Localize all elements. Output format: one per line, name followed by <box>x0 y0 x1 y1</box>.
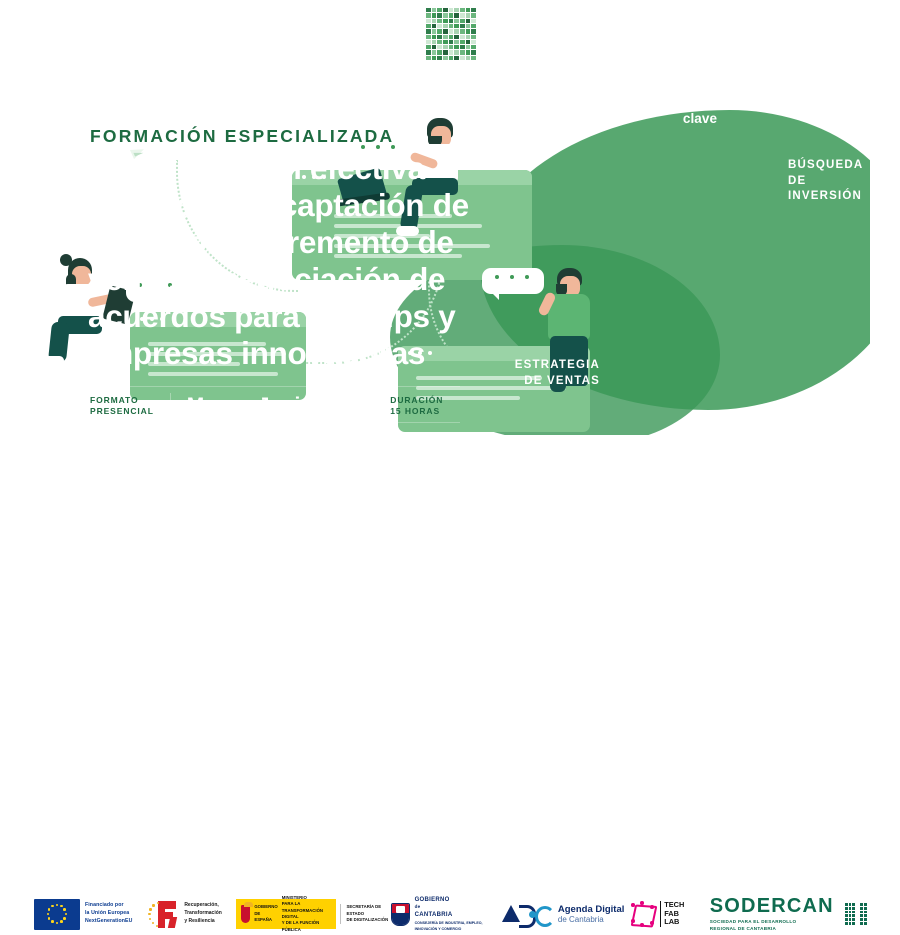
ministry-box: GOBIERNO DE ESPAÑA MINISTERIO PARA LA TR… <box>236 899 337 929</box>
sodercan-tagline: SOCIEDAD PARA EL DESARROLLO REGIONAL DE … <box>710 919 834 933</box>
pixel-grid-motif <box>424 6 478 62</box>
eu-line3: NextGenerationEU <box>85 918 132 926</box>
duration-label: DURACIÓN <box>390 395 443 406</box>
cantabria-line5: INNOVACIÓN Y COMERCIO <box>415 927 483 932</box>
ministry-line4: PARA LA TRANSFORMACIÓN DIGITAL <box>282 901 332 920</box>
tfl-line2: FAB <box>664 910 684 919</box>
divider-top <box>90 386 460 387</box>
topic-negotiation-line1: NEGOCIACIÓN Y <box>730 426 870 435</box>
ministry-line1: GOBIERNO <box>254 904 277 910</box>
adc-logo-text: Agenda Digital de Cantabria <box>558 904 625 925</box>
cantabria-shield-icon <box>391 903 410 926</box>
recovery-line1: Recuperación, <box>184 902 222 910</box>
topic-label-investment: BÚSQUEDA DE INVERSIÓN <box>788 158 870 205</box>
ministry-right2: DE DIGITALIZACIÓN <box>346 917 390 923</box>
topic-label-negotiation: NEGOCIACIÓN Y CIERRE DE ACUERDOS <box>730 426 870 435</box>
tagline: Un enfoque práctico centrado en tres ámb… <box>550 92 850 128</box>
recovery-line3: y Resiliencia <box>184 918 222 926</box>
logo-tech-fab-lab: TECH FAB LAB <box>630 901 704 927</box>
tfl-line3: LAB <box>664 918 684 927</box>
logo-sodercan: SODERCAN SOCIEDAD PARA EL DESARROLLO REG… <box>710 896 872 933</box>
cantabria-line3: CANTABRIA <box>415 911 483 920</box>
ministry-dept-text: MINISTERIO PARA LA TRANSFORMACIÓN DIGITA… <box>282 895 332 934</box>
duration-value: 15 HORAS <box>390 406 443 417</box>
cantabria-line1: GOBIERNO <box>415 896 483 905</box>
ministry-gov-text: GOBIERNO DE ESPAÑA <box>254 904 277 923</box>
adc-mark-icon <box>502 903 554 925</box>
format-value: PRESENCIAL <box>90 406 154 417</box>
ministry-line5: Y DE LA FUNCIÓN PÚBLICA <box>282 920 332 933</box>
logo-agenda-digital: Agenda Digital de Cantabria <box>502 903 630 925</box>
recovery-r-icon <box>145 899 179 930</box>
topic-sales-line1: ESTRATEGIA <box>500 358 600 374</box>
sodercan-name: SODERCAN <box>710 896 834 916</box>
divider-bottom <box>90 422 460 423</box>
promotional-poster: FORMACIÓN ESPECIALIZADA Comunicación efe… <box>0 0 900 505</box>
ministry-right1: SECRETARÍA DE ESTADO <box>346 904 390 917</box>
eu-line2: la Unión Europea <box>85 910 132 918</box>
eu-flag-icon <box>34 899 80 930</box>
ministry-line2: DE ESPAÑA <box>254 911 277 924</box>
topic-investment-line1: BÚSQUEDA <box>788 158 870 174</box>
topic-investment-line2: DE INVERSIÓN <box>788 174 870 205</box>
logo-row: Financiado por la Unión Europea NextGene… <box>34 893 872 935</box>
contact-info: www.sodercan.es techfablab@sodercan.es <box>90 426 207 435</box>
logo-gobierno-espana: GOBIERNO DE ESPAÑA MINISTERIO PARA LA TR… <box>236 899 391 929</box>
page-title: Comunicación efectiva aplicada a la capt… <box>88 150 508 372</box>
cantabria-logo-text: GOBIERNO de CANTABRIA CONSEJERÍA DE INDU… <box>415 896 483 932</box>
format-block: FORMATO PRESENCIAL <box>90 395 154 418</box>
recovery-logo-text: Recuperación, Transformación y Resilienc… <box>184 902 222 925</box>
spain-coat-of-arms-icon <box>241 905 250 923</box>
cantabria-line2: de <box>415 904 483 911</box>
ministry-secretariat-text: SECRETARÍA DE ESTADO DE DIGITALIZACIÓN <box>340 904 390 923</box>
meta-separator <box>170 393 171 419</box>
sodercan-line3: REGIONAL DE CANTABRIA <box>710 926 834 933</box>
tech-fab-lab-cube-icon <box>630 901 658 927</box>
tech-fab-lab-text: TECH FAB LAB <box>660 901 684 927</box>
topic-label-sales: ESTRATEGIA DE VENTAS <box>500 358 600 389</box>
recovery-line2: Transformación <box>184 910 222 918</box>
adc-line1: Agenda Digital <box>558 904 625 915</box>
eu-line1: Financiado por <box>85 902 132 910</box>
logo-gobierno-cantabria: GOBIERNO de CANTABRIA CONSEJERÍA DE INDU… <box>391 896 502 932</box>
cantabria-line4: CONSEJERÍA DE INDUSTRIA, EMPLEO, <box>415 921 483 926</box>
sodercan-grid-icon <box>841 903 867 925</box>
topic-sales-line2: DE VENTAS <box>500 374 600 390</box>
course-dates: Mayo - Junio 2026 <box>187 394 365 418</box>
footer: Financiado por la Unión Europea NextGene… <box>0 441 900 505</box>
tfl-line1: TECH <box>664 901 684 910</box>
format-label: FORMATO <box>90 395 154 406</box>
logo-plan-recuperacion: Recuperación, Transformación y Resilienc… <box>145 899 236 930</box>
green-panel: FORMACIÓN ESPECIALIZADA Comunicación efe… <box>30 30 870 435</box>
eu-logo-text: Financiado por la Unión Europea NextGene… <box>85 902 132 925</box>
website-link[interactable]: www.sodercan.es <box>90 426 207 435</box>
sodercan-wordmark: SODERCAN SOCIEDAD PARA EL DESARROLLO REG… <box>710 896 834 933</box>
logo-european-union: Financiado por la Unión Europea NextGene… <box>34 899 145 930</box>
course-meta: FORMATO PRESENCIAL Mayo - Junio 2026 DUR… <box>90 391 470 421</box>
sodercan-line2: SOCIEDAD PARA EL DESARROLLO <box>710 919 834 926</box>
duration-block: DURACIÓN 15 HORAS <box>390 395 443 418</box>
adc-line2: de Cantabria <box>558 915 625 925</box>
eyebrow-label: FORMACIÓN ESPECIALIZADA <box>90 126 394 147</box>
